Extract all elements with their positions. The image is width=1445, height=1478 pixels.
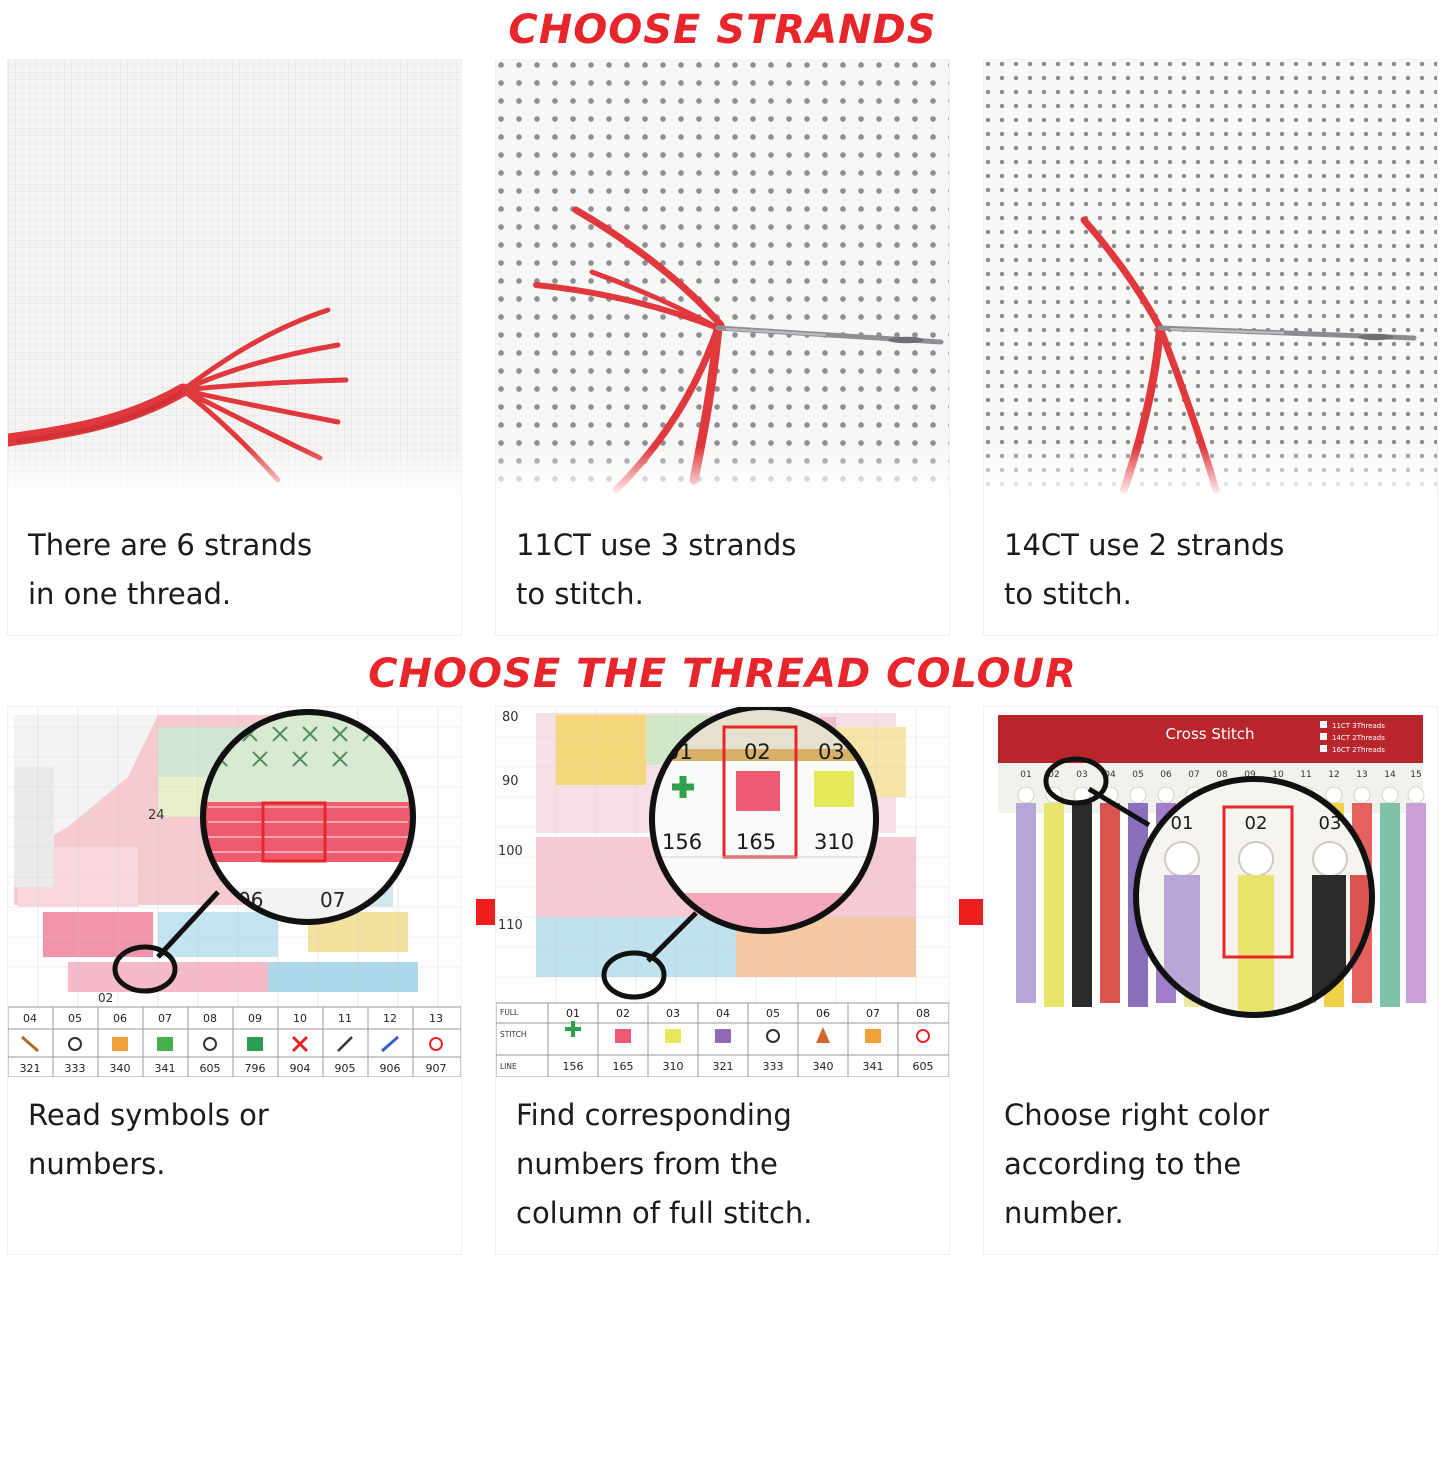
svg-text:07: 07 bbox=[1188, 770, 1199, 780]
caption-six-strands: There are 6 strands in one thread. bbox=[8, 507, 461, 635]
svg-text:02: 02 bbox=[616, 1007, 630, 1020]
svg-text:07: 07 bbox=[158, 1012, 172, 1025]
svg-text:165: 165 bbox=[613, 1060, 634, 1073]
needle-three-strands-illustration bbox=[496, 60, 949, 507]
svg-text:110: 110 bbox=[498, 918, 523, 933]
svg-text:01: 01 bbox=[1171, 813, 1194, 834]
svg-text:80: 80 bbox=[502, 710, 519, 725]
svg-text:321: 321 bbox=[20, 1062, 41, 1075]
photo-choose-color: Cross Stitch 11CT 3Threads 14CT 2Threads… bbox=[984, 707, 1437, 1077]
section-title-choose-thread-colour: CHOOSE THE THREAD COLOUR bbox=[0, 641, 1445, 707]
printed-canvas-illustration-1: 24 02 bbox=[8, 707, 461, 1077]
svg-text:02: 02 bbox=[1245, 813, 1268, 834]
svg-text:333: 333 bbox=[65, 1062, 86, 1075]
caption-line-1: Find corresponding bbox=[516, 1091, 929, 1140]
svg-text:906: 906 bbox=[380, 1062, 401, 1075]
photo-11ct bbox=[496, 60, 949, 507]
caption-line-1: 14CT use 2 strands bbox=[1004, 521, 1417, 570]
svg-text:341: 341 bbox=[863, 1060, 884, 1073]
svg-text:07: 07 bbox=[320, 888, 345, 912]
svg-text:06: 06 bbox=[816, 1007, 830, 1020]
caption-choose-color: Choose right color according to the numb… bbox=[984, 1077, 1437, 1254]
svg-text:08: 08 bbox=[916, 1007, 930, 1020]
svg-text:310: 310 bbox=[663, 1060, 684, 1073]
caption-line-2: numbers. bbox=[28, 1140, 441, 1189]
thread-six-strands-illustration bbox=[8, 60, 461, 507]
svg-text:08: 08 bbox=[203, 1012, 217, 1025]
svg-text:12: 12 bbox=[1328, 770, 1339, 780]
svg-text:904: 904 bbox=[290, 1062, 311, 1075]
svg-text:11: 11 bbox=[338, 1012, 352, 1025]
svg-text:06: 06 bbox=[1160, 770, 1172, 780]
printed-canvas-illustration-2: 80 90 100 110 bbox=[496, 707, 949, 1077]
svg-text:340: 340 bbox=[110, 1062, 131, 1075]
svg-text:333: 333 bbox=[763, 1060, 784, 1073]
svg-text:11: 11 bbox=[1300, 770, 1311, 780]
svg-text:03: 03 bbox=[1076, 770, 1087, 780]
svg-text:02: 02 bbox=[98, 991, 113, 1005]
svg-text:321: 321 bbox=[713, 1060, 734, 1073]
svg-text:310: 310 bbox=[814, 830, 854, 854]
photo-read-symbols: 24 02 bbox=[8, 707, 461, 1077]
svg-text:15: 15 bbox=[1410, 770, 1421, 780]
photo-bottom-fade bbox=[984, 447, 1437, 507]
svg-text:Cross Stitch: Cross Stitch bbox=[1165, 725, 1254, 743]
svg-text:796: 796 bbox=[245, 1062, 266, 1075]
svg-text:90: 90 bbox=[502, 774, 519, 789]
svg-text:05: 05 bbox=[1132, 770, 1143, 780]
svg-text:03: 03 bbox=[818, 740, 845, 764]
photo-bottom-fade bbox=[496, 447, 949, 507]
svg-text:340: 340 bbox=[813, 1060, 834, 1073]
svg-text:05: 05 bbox=[766, 1007, 780, 1020]
svg-text:09: 09 bbox=[248, 1012, 262, 1025]
card-11ct-three-strands: 11CT use 3 strands to stitch. bbox=[496, 60, 949, 635]
caption-line-1: There are 6 strands bbox=[28, 521, 441, 570]
svg-text:08: 08 bbox=[1216, 770, 1228, 780]
photo-six-strands bbox=[8, 60, 461, 507]
svg-text:LINE: LINE bbox=[500, 1062, 517, 1071]
svg-text:24: 24 bbox=[148, 808, 165, 823]
svg-text:14CT 2Threads: 14CT 2Threads bbox=[1332, 734, 1385, 742]
svg-text:10: 10 bbox=[293, 1012, 307, 1025]
svg-text:03: 03 bbox=[666, 1007, 680, 1020]
caption-14ct: 14CT use 2 strands to stitch. bbox=[984, 507, 1437, 635]
svg-text:13: 13 bbox=[1356, 770, 1367, 780]
caption-line-2: numbers from the bbox=[516, 1140, 929, 1189]
svg-text:FULL: FULL bbox=[500, 1008, 519, 1017]
caption-line-2: according to the bbox=[1004, 1140, 1417, 1189]
svg-text:13: 13 bbox=[429, 1012, 443, 1025]
svg-text:16CT 2Threads: 16CT 2Threads bbox=[1332, 746, 1385, 754]
card-choose-color: Cross Stitch 11CT 3Threads 14CT 2Threads… bbox=[984, 707, 1437, 1254]
svg-text:01: 01 bbox=[1020, 770, 1031, 780]
card-six-strands: There are 6 strands in one thread. bbox=[8, 60, 461, 635]
svg-text:14: 14 bbox=[1384, 770, 1396, 780]
svg-text:12: 12 bbox=[383, 1012, 397, 1025]
svg-text:605: 605 bbox=[913, 1060, 934, 1073]
svg-text:605: 605 bbox=[200, 1062, 221, 1075]
needle-icon bbox=[718, 328, 941, 343]
thread-organiser-illustration: Cross Stitch 11CT 3Threads 14CT 2Threads… bbox=[984, 707, 1437, 1077]
caption-line-1: 11CT use 3 strands bbox=[516, 521, 929, 570]
svg-text:04: 04 bbox=[716, 1007, 730, 1020]
svg-text:341: 341 bbox=[155, 1062, 176, 1075]
svg-text:02: 02 bbox=[744, 740, 771, 764]
caption-line-3: number. bbox=[1004, 1189, 1417, 1238]
caption-find-numbers: Find corresponding numbers from the colu… bbox=[496, 1077, 949, 1254]
svg-text:06: 06 bbox=[113, 1012, 127, 1025]
caption-line-1: Choose right color bbox=[1004, 1091, 1417, 1140]
caption-11ct: 11CT use 3 strands to stitch. bbox=[496, 507, 949, 635]
svg-text:05: 05 bbox=[68, 1012, 82, 1025]
svg-text:156: 156 bbox=[563, 1060, 584, 1073]
svg-text:165: 165 bbox=[736, 830, 776, 854]
svg-text:STITCH: STITCH bbox=[500, 1030, 527, 1039]
section-title-choose-strands: CHOOSE STRANDS bbox=[0, 0, 1445, 60]
svg-text:11CT 3Threads: 11CT 3Threads bbox=[1332, 722, 1385, 730]
svg-text:907: 907 bbox=[426, 1062, 447, 1075]
card-read-symbols: 24 02 bbox=[8, 707, 461, 1254]
caption-line-3: column of full stitch. bbox=[516, 1189, 929, 1238]
caption-line-2: to stitch. bbox=[516, 570, 929, 619]
svg-text:156: 156 bbox=[662, 830, 702, 854]
photo-14ct bbox=[984, 60, 1437, 507]
svg-text:905: 905 bbox=[335, 1062, 356, 1075]
caption-line-2: to stitch. bbox=[1004, 570, 1417, 619]
svg-text:01: 01 bbox=[566, 1007, 580, 1020]
svg-text:07: 07 bbox=[866, 1007, 880, 1020]
strands-card-row: There are 6 strands in one thread. bbox=[0, 60, 1445, 635]
caption-line-2: in one thread. bbox=[28, 570, 441, 619]
needle-icon bbox=[1160, 328, 1414, 340]
needle-two-strands-illustration bbox=[984, 60, 1437, 507]
svg-text:100: 100 bbox=[498, 844, 523, 859]
card-14ct-two-strands: 14CT use 2 strands to stitch. bbox=[984, 60, 1437, 635]
photo-find-numbers: 80 90 100 110 bbox=[496, 707, 949, 1077]
svg-text:04: 04 bbox=[23, 1012, 37, 1025]
caption-read-symbols: Read symbols or numbers. bbox=[8, 1077, 461, 1205]
colour-card-row: 24 02 bbox=[0, 707, 1445, 1254]
card-find-numbers: 80 90 100 110 bbox=[496, 707, 949, 1254]
photo-bottom-fade bbox=[8, 447, 461, 507]
caption-line-1: Read symbols or bbox=[28, 1091, 441, 1140]
